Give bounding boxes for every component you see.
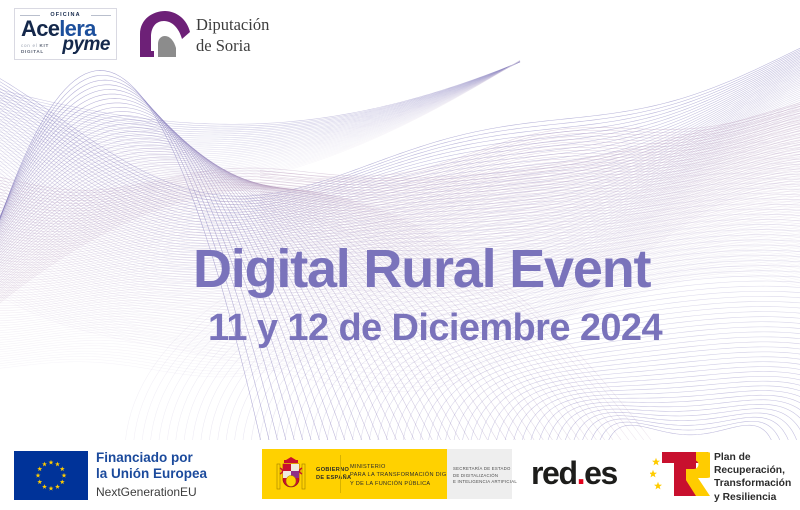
top-logo-bar: OFICINA Acelera pyme con el KIT DIGITAL …: [0, 0, 800, 72]
plan-line4: y Resiliencia: [714, 491, 791, 504]
acelera-pyme-word: pyme: [62, 35, 110, 54]
eu-line1: Financiado por: [96, 450, 207, 466]
plan-line2: Recuperación,: [714, 464, 791, 477]
footer-logo-bar: Financiado por la Unión Europea NextGene…: [0, 440, 800, 510]
eu-line3: NextGenerationEU: [96, 485, 207, 501]
diputacion-soria-logo: Diputación de Soria: [136, 8, 266, 62]
acelera-pyme-logo: OFICINA Acelera pyme con el KIT DIGITAL: [14, 8, 117, 60]
secretaria-line1: SECRETARÍA DE ESTADO: [453, 466, 511, 471]
acelera-kit-digital: con el KIT DIGITAL: [21, 43, 49, 55]
event-title: Digital Rural Event: [193, 242, 650, 296]
red-es-dot: .: [577, 455, 585, 491]
eu-wordmark: Financiado por la Unión Europea NextGene…: [96, 450, 207, 501]
soria-line2: de Soria: [196, 36, 269, 57]
gobierno-espana-logo: GOBIERNO DE ESPAÑA MINISTERIO PARA LA TR…: [262, 449, 512, 499]
red-es-logo: red.es: [531, 457, 617, 489]
secretaria-line2: DE DIGITALIZACIÓN: [453, 473, 498, 478]
spain-coat-of-arms-icon: [274, 455, 308, 493]
acelera-kit-line1: KIT: [39, 43, 49, 48]
acelera-kit-prefix: con el: [21, 43, 37, 48]
plan-wordmark: Plan de Recuperación, Transformación y R…: [714, 451, 791, 504]
soria-line1: Diputación: [196, 15, 269, 36]
acelera-kit-line2: DIGITAL: [21, 49, 44, 54]
gobierno-divider: [340, 455, 341, 493]
eu-flag-icon: [14, 451, 88, 500]
secretaria-line3: E INTELIGENCIA ARTIFICIAL: [453, 479, 517, 484]
plan-line3: Transformación: [714, 477, 791, 490]
event-poster: OFICINA Acelera pyme con el KIT DIGITAL …: [0, 0, 800, 510]
red-es-part2: es: [584, 455, 617, 491]
gobierno-line2: DE ESPAÑA: [316, 475, 351, 481]
red-es-part1: red: [531, 455, 577, 491]
ministerio-line2: PARA LA TRANSFORMACIÓN DIGITAL: [350, 472, 459, 478]
plan-tr-icon: [650, 448, 710, 500]
plan-line1: Plan de: [714, 451, 791, 464]
eu-line2: la Unión Europea: [96, 466, 207, 482]
soria-arch-icon: [136, 10, 192, 58]
event-dates: 11 y 12 de Diciembre 2024: [208, 309, 662, 347]
gobierno-yellow-panel: GOBIERNO DE ESPAÑA MINISTERIO PARA LA TR…: [262, 449, 447, 499]
ministerio-wordmark: MINISTERIO PARA LA TRANSFORMACIÓN DIGITA…: [350, 463, 459, 488]
plan-recuperacion-logo: Plan de Recuperación, Transformación y R…: [650, 445, 796, 505]
soria-wordmark: Diputación de Soria: [196, 15, 269, 56]
european-union-logo: Financiado por la Unión Europea NextGene…: [14, 445, 234, 503]
gobierno-line1: GOBIERNO: [316, 467, 349, 473]
eu-stars: [14, 451, 88, 500]
secretaria-panel: SECRETARÍA DE ESTADO DE DIGITALIZACIÓN E…: [447, 449, 512, 499]
acelera-word-ace: Ace: [21, 16, 59, 41]
secretaria-wordmark: SECRETARÍA DE ESTADO DE DIGITALIZACIÓN E…: [453, 466, 517, 486]
gobierno-wordmark: GOBIERNO DE ESPAÑA: [316, 466, 351, 482]
ministerio-line3: Y DE LA FUNCIÓN PÚBLICA: [350, 481, 430, 487]
ministerio-line1: MINISTERIO: [350, 464, 386, 470]
